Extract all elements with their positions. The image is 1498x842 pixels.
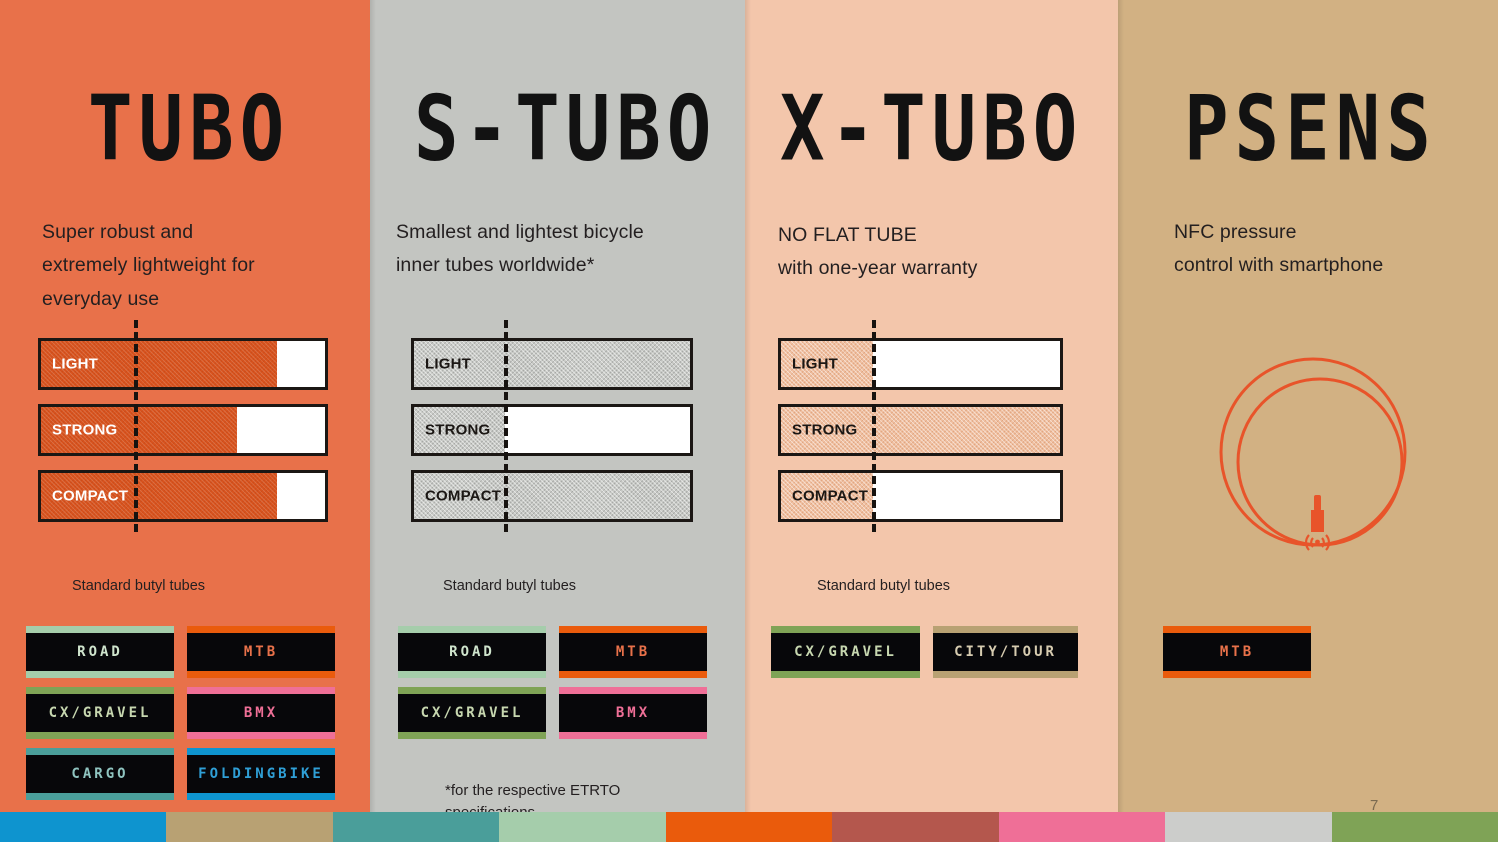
bar-row-strong: STRONG [411,404,693,456]
category-chips-x-tubo: CX/GRAVEL CITY/TOUR [771,626,1101,678]
strip-swatch-8 [1332,812,1498,842]
page-title-psens: PSENS [1184,84,1437,174]
chip-label: MTB [244,645,278,659]
strip-swatch-0 [0,812,166,842]
strip-swatch-2 [333,812,499,842]
strip-swatch-1 [166,812,332,842]
reference-dash-line [504,320,508,532]
bar-label-light: LIGHT [792,356,838,373]
chip-mtb[interactable]: MTB [1163,626,1311,678]
bar-label-compact: COMPACT [792,488,868,505]
page-number: 7 [1370,797,1378,812]
chip-label: BMX [244,706,278,720]
subtitle-tubo: Super robust and extremely lightweight f… [42,216,255,317]
bar-label-strong: STRONG [52,422,117,439]
subtitle-psens: NFC pressure control with smartphone [1174,216,1383,283]
bar-label-compact: COMPACT [52,488,128,505]
bar-row-light: LIGHT [778,338,1063,390]
chip-cx-gravel[interactable]: CX/GRAVEL [26,687,174,739]
subtitle-x-tubo: NO FLAT TUBE with one-year warranty [778,219,977,286]
chip-label: CX/GRAVEL [794,645,897,659]
bar-row-compact: COMPACT [411,470,693,522]
bar-chart-tubo: LIGHT STRONG COMPACT [38,338,328,536]
chip-label: CARGO [71,767,128,781]
strip-swatch-7 [1165,812,1331,842]
chip-label: CX/GRAVEL [49,706,152,720]
axis-caption-tubo: Standard butyl tubes [72,578,205,594]
bar-row-light: LIGHT [38,338,328,390]
bar-chart-x-tubo: LIGHT STRONG COMPACT [778,338,1063,536]
axis-caption-x-tubo: Standard butyl tubes [817,578,950,594]
page-title-tubo: TUBO [88,84,290,174]
bar-label-light: LIGHT [52,356,98,373]
subtitle-s-tubo: Smallest and lightest bicycle inner tube… [396,216,644,283]
chip-bmx[interactable]: BMX [559,687,707,739]
chip-cx-gravel[interactable]: CX/GRAVEL [771,626,920,678]
bottom-color-strip [0,812,1498,842]
strip-swatch-6 [999,812,1165,842]
axis-caption-s-tubo: Standard butyl tubes [443,578,576,594]
product-column-s-tubo: S-TUBO Smallest and lightest bicycle inn… [370,0,745,812]
slide-canvas: TUBO Super robust and extremely lightwei… [0,0,1498,842]
chip-label: MTB [1220,645,1254,659]
product-column-x-tubo: X-TUBO NO FLAT TUBE with one-year warran… [745,0,1118,812]
chip-label: BMX [616,706,650,720]
bar-chart-s-tubo: LIGHT STRONG COMPACT [411,338,693,536]
bar-row-compact: COMPACT [778,470,1063,522]
category-chips-s-tubo: ROAD MTB CX/GRAVEL BMX [398,626,728,739]
column-edge-shadow [1118,0,1124,812]
product-column-psens: PSENS NFC pressure control with smartpho… [1118,0,1498,812]
bar-row-light: LIGHT [411,338,693,390]
strip-swatch-3 [499,812,665,842]
column-edge-shadow [370,0,376,812]
bar-row-strong: STRONG [778,404,1063,456]
chip-label: MTB [616,645,650,659]
chip-road[interactable]: ROAD [26,626,174,678]
strip-swatch-4 [666,812,832,842]
chip-label: FOLDINGBIKE [198,767,324,781]
chip-mtb[interactable]: MTB [559,626,707,678]
product-column-tubo: TUBO Super robust and extremely lightwei… [0,0,370,812]
chip-label: CX/GRAVEL [421,706,524,720]
chip-cargo[interactable]: CARGO [26,748,174,800]
category-chips-psens: MTB [1163,626,1493,678]
bar-row-compact: COMPACT [38,470,328,522]
chip-label: ROAD [449,645,495,659]
strip-swatch-5 [832,812,998,842]
bar-row-strong: STRONG [38,404,328,456]
category-chips-tubo: ROAD MTB CX/GRAVEL BMX CARGO FOLDINGBIKE [26,626,356,800]
bar-label-compact: COMPACT [425,488,501,505]
reference-dash-line [872,320,876,532]
chip-road[interactable]: ROAD [398,626,546,678]
reference-dash-line [134,320,138,532]
chip-foldingbike[interactable]: FOLDINGBIKE [187,748,335,800]
chip-label: CITY/TOUR [954,645,1057,659]
bar-label-strong: STRONG [425,422,490,439]
chip-mtb[interactable]: MTB [187,626,335,678]
bar-label-light: LIGHT [425,356,471,373]
bar-label-strong: STRONG [792,422,857,439]
chip-label: ROAD [77,645,123,659]
chip-cx-gravel[interactable]: CX/GRAVEL [398,687,546,739]
nfc-tube-icon [1214,352,1419,557]
chip-city-tour[interactable]: CITY/TOUR [933,626,1078,678]
column-edge-shadow [745,0,751,812]
page-title-s-tubo: S-TUBO [414,84,717,174]
chip-bmx[interactable]: BMX [187,687,335,739]
page-title-x-tubo: X-TUBO [780,84,1083,174]
footnote-etrto: *for the respective ETRTO specifications [445,780,620,812]
